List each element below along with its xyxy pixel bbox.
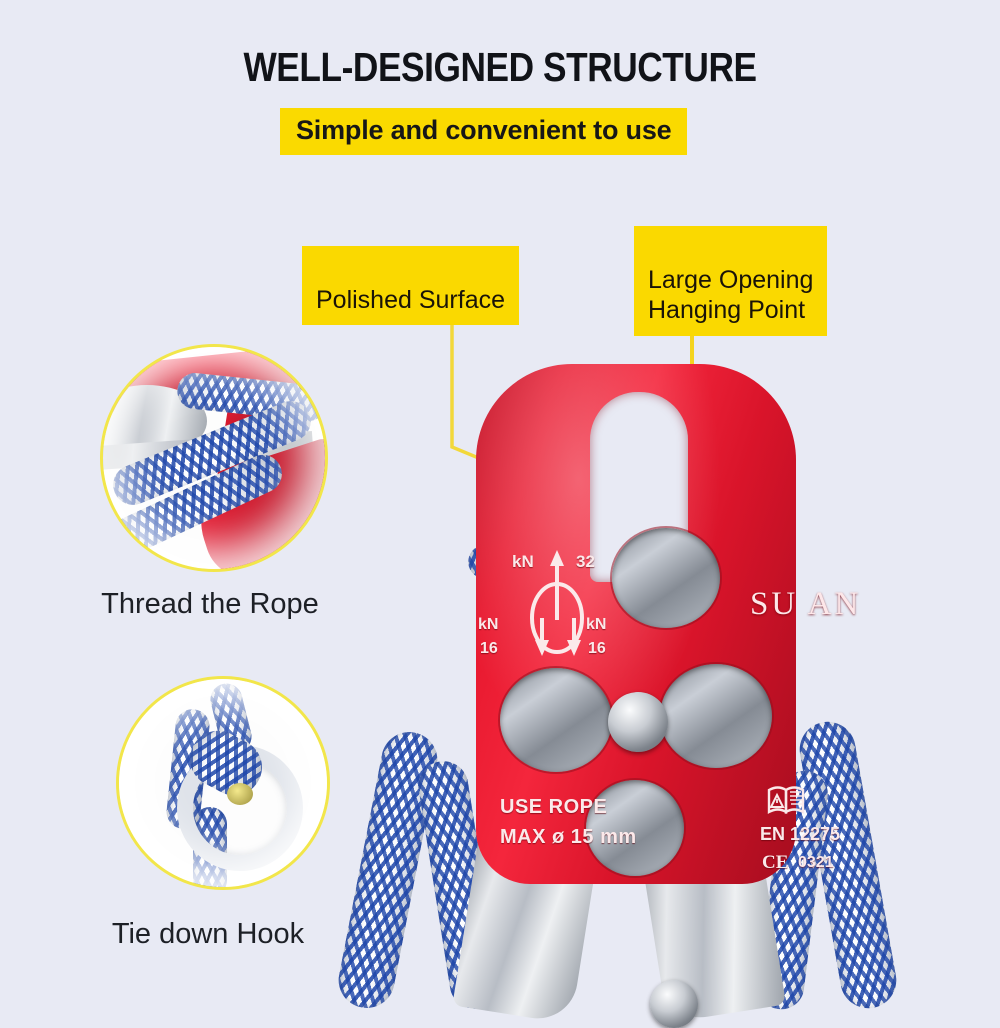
load-rating-right-value: 16 bbox=[588, 640, 606, 658]
brand-name: SU AN bbox=[750, 586, 861, 623]
subtitle-banner: Simple and convenient to use bbox=[280, 108, 687, 155]
product-pulley: kN 32 kN 16 kN 16 SU AN USE ROPE MAX ø 1… bbox=[350, 330, 1000, 1000]
ce-mark: CE bbox=[762, 852, 788, 874]
load-rating-left-unit: kN bbox=[478, 616, 498, 634]
inset-vignette bbox=[119, 679, 327, 887]
sheave-window-right bbox=[660, 664, 772, 768]
notified-body-number: 0321 bbox=[798, 854, 834, 872]
poster-canvas: WELL-DESIGNED STRUCTURE Simple and conve… bbox=[0, 0, 1000, 1000]
rope-spec-line-2: MAX ø 15 mm bbox=[500, 826, 637, 849]
sheave-window-left bbox=[500, 668, 612, 772]
inset-knot-image bbox=[119, 679, 327, 887]
step-label-thread-the-rope: Thread the Rope bbox=[30, 588, 390, 621]
center-rivet bbox=[608, 692, 668, 752]
inset-thread-image bbox=[103, 347, 325, 569]
step-label-tie-down-hook: Tie down Hook bbox=[28, 918, 388, 951]
load-rating-right-unit: kN bbox=[586, 616, 606, 634]
inset-thread-the-rope bbox=[100, 344, 328, 572]
standard-marking: EN 12275 bbox=[760, 824, 840, 845]
rope-spec-line-1: USE ROPE bbox=[500, 796, 607, 819]
inset-vignette bbox=[103, 347, 325, 569]
subtitle-text: Simple and convenient to use bbox=[296, 115, 671, 146]
inset-tie-down-hook bbox=[116, 676, 330, 890]
callout-polished-surface-label: Polished Surface bbox=[316, 286, 505, 314]
page-title: WELL-DESIGNED STRUCTURE bbox=[70, 44, 930, 91]
load-rating-left-value: 16 bbox=[480, 640, 498, 658]
callout-hanging-point-label: Large Opening Hanging Point bbox=[648, 266, 813, 325]
callout-large-opening-hanging-point: Large Opening Hanging Point bbox=[634, 226, 827, 336]
sheave-window-top bbox=[612, 528, 720, 628]
callout-polished-surface: Polished Surface bbox=[302, 246, 519, 325]
lower-rivet bbox=[650, 980, 698, 1028]
read-instructions-icon bbox=[766, 782, 806, 818]
